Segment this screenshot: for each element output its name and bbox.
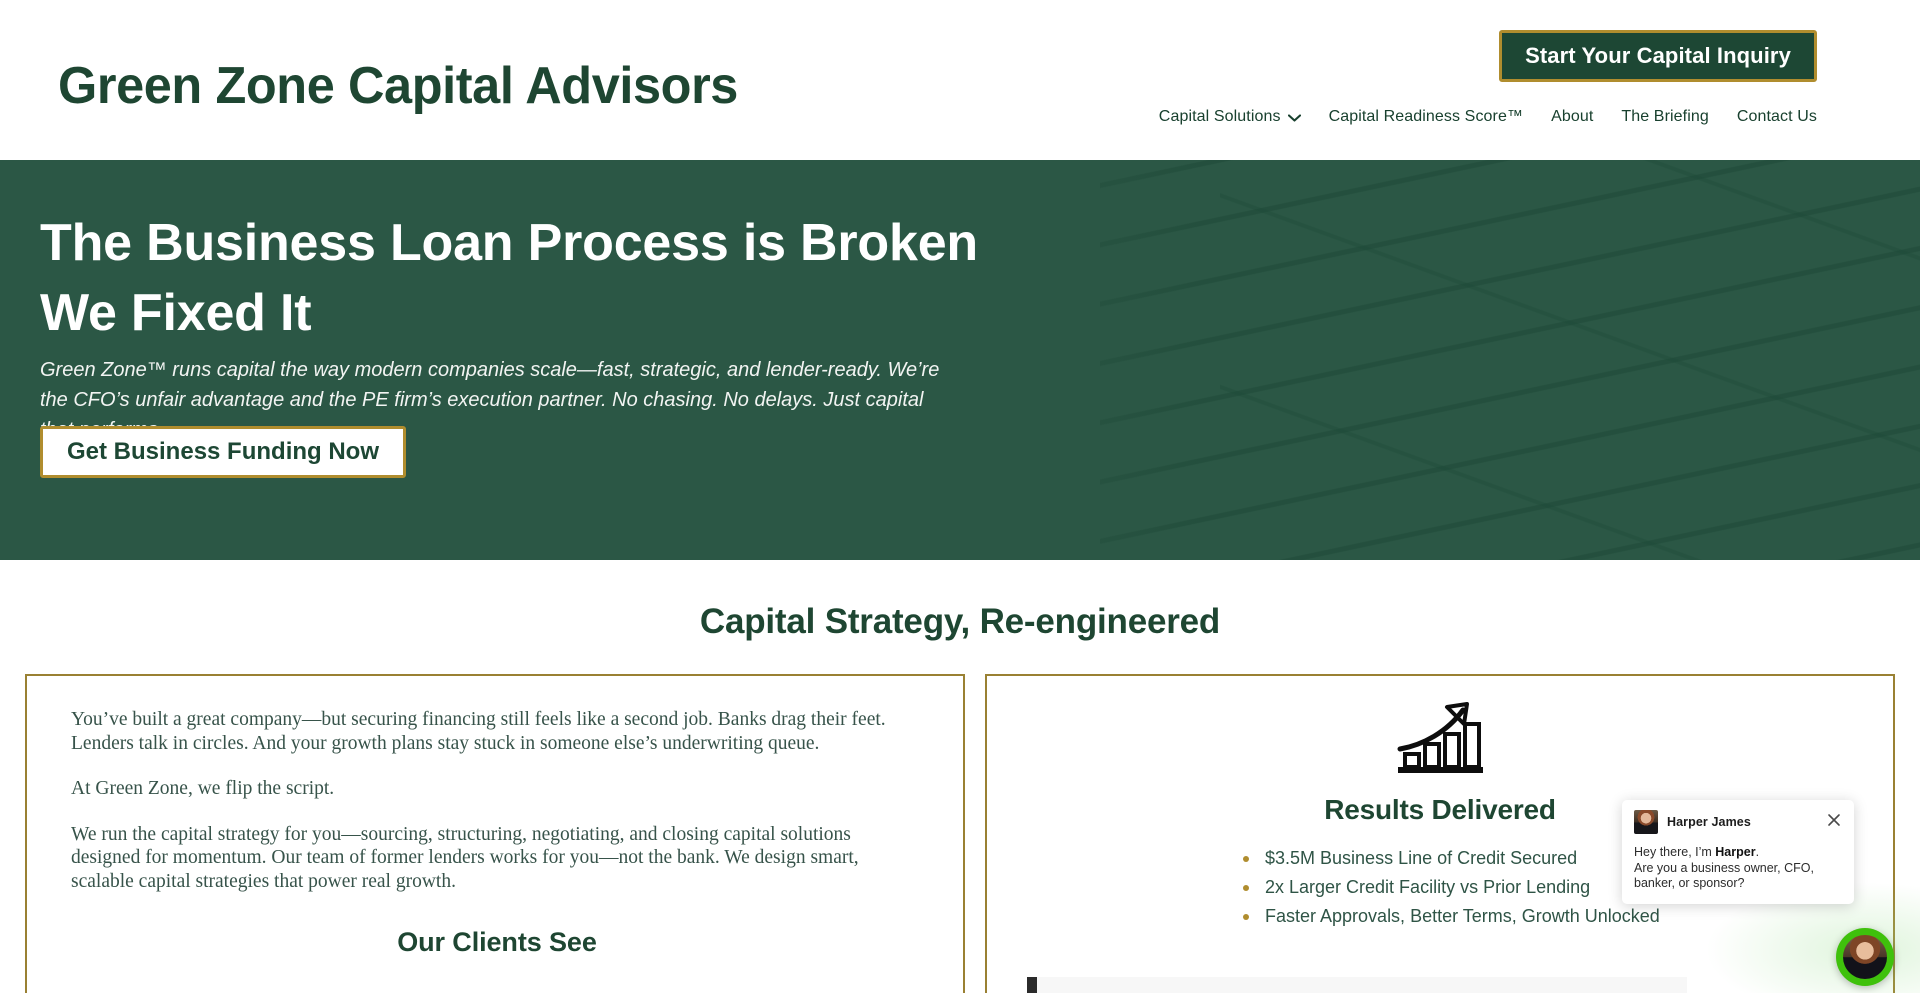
- results-bullet-item: $3.5M Business Line of Credit Secured: [1239, 846, 1659, 871]
- nav-item-capital-readiness-score[interactable]: Capital Readiness Score™: [1315, 108, 1538, 126]
- chat-question: Are you a business owner, CFO, banker, o…: [1634, 861, 1814, 891]
- hero-diagonal-lines-texture: [1100, 160, 1920, 560]
- hero-section: The Business Loan Process is Broken We F…: [0, 160, 1920, 560]
- results-delivered-title: Results Delivered: [1324, 794, 1556, 826]
- gray-accent-bar: [1027, 977, 1687, 993]
- primary-nav: Capital Solutions Capital Readiness Scor…: [1145, 108, 1817, 126]
- left-card-body: You’ve built a great company—but securin…: [27, 676, 963, 958]
- nav-item-about[interactable]: About: [1537, 108, 1607, 126]
- capital-strategy-section: Capital Strategy, Re-engineered You’ve b…: [0, 560, 1920, 993]
- hero-content: The Business Loan Process is Broken We F…: [40, 160, 1140, 560]
- results-bullet-list: $3.5M Business Line of Credit Secured 2x…: [1239, 846, 1659, 933]
- nav-label: Capital Solutions: [1159, 108, 1281, 126]
- growth-bar-chart-arrow-icon: [1393, 698, 1488, 778]
- chat-greeting-name: Harper: [1715, 845, 1755, 859]
- chat-greeting-prefix: Hey there, I’m: [1634, 845, 1715, 859]
- chat-launcher-avatar: [1843, 935, 1887, 979]
- header-right-group: Start Your Capital Inquiry Capital Solut…: [1100, 0, 1920, 160]
- nav-item-contact-us[interactable]: Contact Us: [1723, 108, 1817, 126]
- chat-launcher-button[interactable]: [1836, 928, 1894, 986]
- left-content-card: You’ve built a great company—but securin…: [25, 674, 965, 993]
- chat-greeting-card: Harper James Hey there, I’m Harper. Are …: [1622, 800, 1854, 904]
- nav-item-the-briefing[interactable]: The Briefing: [1607, 108, 1722, 126]
- results-bullet-item: Faster Approvals, Better Terms, Growth U…: [1239, 904, 1659, 929]
- hero-diagonal-lines-texture-secondary: [1220, 160, 1920, 560]
- chevron-down-icon: [1288, 114, 1301, 122]
- avatar: [1634, 810, 1658, 834]
- site-logo[interactable]: Green Zone Capital Advisors: [58, 56, 738, 116]
- hero-headline: The Business Loan Process is Broken We F…: [40, 208, 978, 348]
- site-header: Green Zone Capital Advisors Start Your C…: [0, 0, 1920, 160]
- left-card-paragraph-1: You’ve built a great company—but securin…: [71, 708, 923, 755]
- left-card-paragraph-3: We run the capital strategy for you—sour…: [71, 823, 923, 894]
- results-bullet-item: 2x Larger Credit Facility vs Prior Lendi…: [1239, 875, 1659, 900]
- chat-greeting-text: Hey there, I’m Harper. Are you a busines…: [1634, 845, 1842, 892]
- chat-greeting-suffix: .: [1756, 845, 1759, 859]
- start-capital-inquiry-button[interactable]: Start Your Capital Inquiry: [1499, 30, 1817, 82]
- nav-item-capital-solutions[interactable]: Capital Solutions: [1145, 108, 1315, 126]
- chat-card-header: Harper James: [1634, 810, 1842, 834]
- left-card-paragraph-2: At Green Zone, we flip the script.: [71, 777, 923, 801]
- below-fold-content-strip: [1027, 977, 1687, 993]
- our-clients-see-heading: Our Clients See: [71, 927, 923, 958]
- chat-agent-name: Harper James: [1667, 815, 1751, 829]
- get-business-funding-button[interactable]: Get Business Funding Now: [40, 426, 406, 478]
- close-icon[interactable]: [1826, 812, 1842, 828]
- section-title: Capital Strategy, Re-engineered: [0, 602, 1920, 642]
